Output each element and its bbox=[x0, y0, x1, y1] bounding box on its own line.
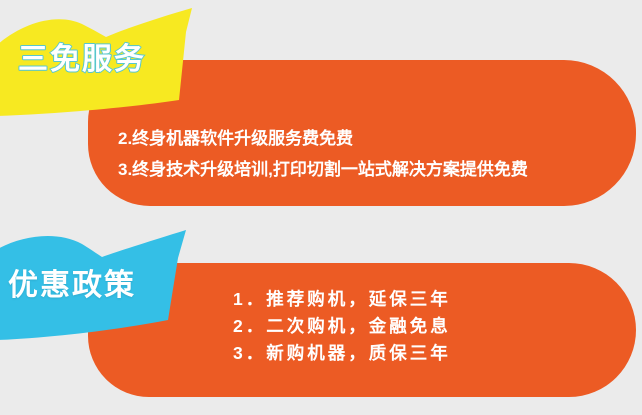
services-line-2: 3.终身技术升级培训,打印切割一站式解决方案提供免费 bbox=[118, 154, 528, 185]
policy-line-3: 3．新购机器，质保三年 bbox=[233, 340, 451, 367]
services-banner-title: 三免服务 bbox=[18, 45, 146, 75]
policy-text-block: 1．推荐购机，延保三年 2．二次购机，金融免息 3．新购机器，质保三年 bbox=[233, 286, 451, 367]
policy-line-2: 2．二次购机，金融免息 bbox=[233, 313, 451, 340]
promo-poster: 三免服务 2.终身机器软件升级服务费免费 3.终身技术升级培训,打印切割一站式解… bbox=[0, 0, 642, 415]
policy-banner-title: 优惠政策 bbox=[8, 271, 136, 301]
services-text-block: 2.终身机器软件升级服务费免费 3.终身技术升级培训,打印切割一站式解决方案提供… bbox=[118, 123, 528, 185]
services-line-1: 2.终身机器软件升级服务费免费 bbox=[118, 123, 528, 154]
policy-line-1: 1．推荐购机，延保三年 bbox=[233, 286, 451, 313]
